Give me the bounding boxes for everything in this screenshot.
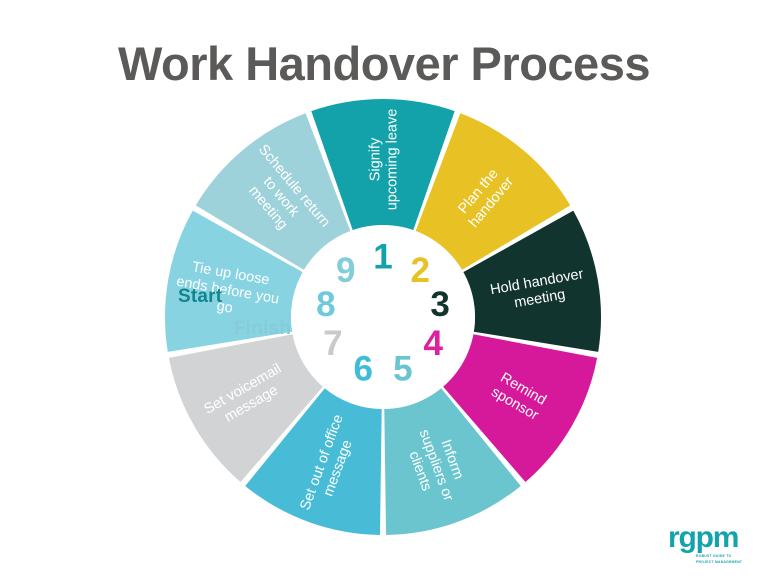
wheel-number-5: 5 [393,350,412,389]
logo-wordmark: rgpm [668,523,754,553]
rgpm-logo: rgpm ROBUST GUIDE TO PROJECT MANAGEMENT [668,523,754,567]
page-title: Work Handover Process [0,36,768,91]
wheel-number-2: 2 [411,251,430,290]
wheel-number-7: 7 [323,324,342,363]
wheel-number-8: 8 [316,285,335,324]
wheel-number-1: 1 [373,237,392,276]
wheel-svg: Signifyupcoming leavePlan thehandoverHol… [163,97,603,537]
logo-tagline-line2: PROJECT MANAGEMENT [696,560,754,565]
wheel-number-4: 4 [423,324,443,363]
logo-tagline-line1: ROBUST GUIDE TO [696,554,754,559]
wheel-number-3: 3 [430,285,449,324]
infographic-canvas: Work Handover Process Signifyupcoming le… [0,0,768,576]
finish-marker: Finish [234,318,291,340]
start-marker: Start [178,286,222,308]
wheel-number-9: 9 [336,251,355,290]
process-wheel: Signifyupcoming leavePlan thehandoverHol… [163,97,603,537]
wheel-number-6: 6 [353,350,372,389]
